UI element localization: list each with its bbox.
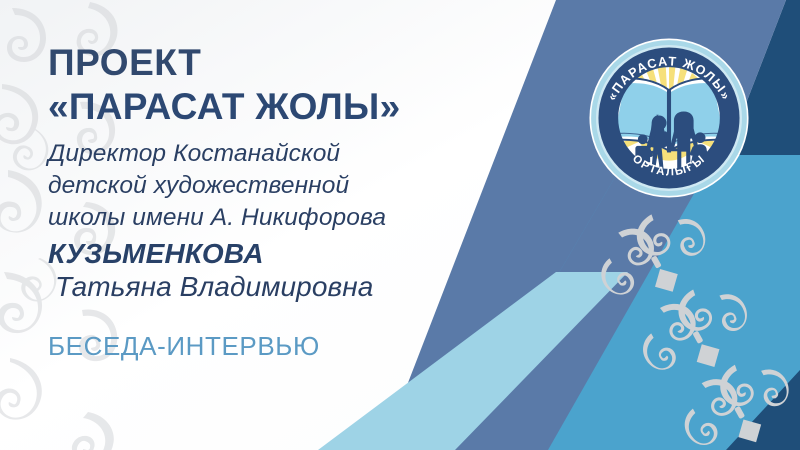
- format-label: БЕСЕДА-ИНТЕРВЬЮ: [48, 331, 568, 362]
- role-line-2: детской художественной: [48, 170, 568, 202]
- presentation-slide: ПРОЕКТ «ПАРАСАТ ЖОЛЫ» Директор Костанайс…: [0, 0, 800, 450]
- role-line-3: школы имени А. Никифорова: [48, 202, 568, 234]
- role-line-1: Директор Костанайской: [48, 138, 568, 170]
- speaker-surname: КУЗЬМЕНКОВА: [48, 237, 568, 270]
- slide-text-block: ПРОЕКТ «ПАРАСАТ ЖОЛЫ» Директор Костанайс…: [48, 42, 568, 362]
- project-kicker: ПРОЕКТ: [48, 42, 568, 83]
- parasat-zholy-emblem-logo: «ПАРАСАТ ЖОЛЫ» ОРТАЛЫҒЫ: [587, 36, 751, 200]
- speaker-firstname-patronymic: Татьяна Владимировна: [48, 270, 568, 304]
- project-name: «ПАРАСАТ ЖОЛЫ»: [48, 85, 568, 129]
